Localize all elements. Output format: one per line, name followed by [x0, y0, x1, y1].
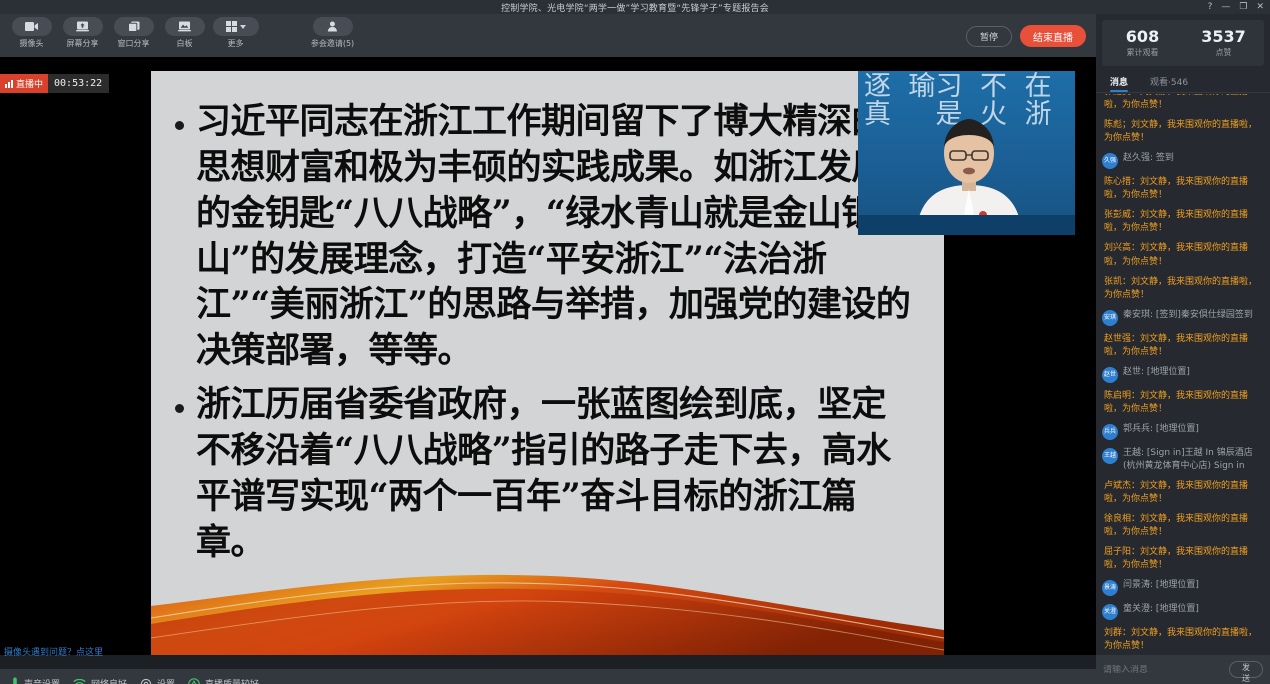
message-composer: 发送 [1096, 655, 1270, 684]
chat-message-text: 张凯：刘文静，我来围观你的直播啦，为你点赞！ [1104, 276, 1262, 302]
slide-bullet: 浙江历届省委省政府，一张蓝图绘到底，坚定不移沿着“八八战略”指引的路子走下去，高… [175, 382, 920, 565]
chat-message: 张彭威：刘文静，我来围观你的直播啦，为你点赞！ [1102, 209, 1262, 235]
person-add-icon [313, 17, 353, 36]
chat-message: 赵世赵世: [地理位置] [1102, 366, 1262, 383]
whiteboard-icon [165, 17, 205, 36]
live-broadcast-app: 控制学院、光电学院“两学一做”学习教育暨“先锋学子”专题报告会 ? — ❐ ✕ [0, 0, 1270, 684]
camera-icon [12, 17, 52, 36]
stat-likes-label: 点赞 [1183, 47, 1264, 58]
stats-box: 608 累计观看 3537 点赞 [1102, 20, 1264, 66]
calligraphy-col-5: 在浙 [1025, 73, 1070, 233]
status-network[interactable]: 网络良好 [73, 677, 127, 684]
chevron-down-icon [240, 25, 246, 29]
avatar[interactable]: 王越 [1102, 448, 1118, 464]
window-title: 控制学院、光电学院“两学一做”学习教育暨“先锋学子”专题报告会 [501, 1, 769, 14]
window-share-icon [114, 17, 154, 36]
tool-window-share[interactable]: 窗口分享 [108, 17, 159, 49]
tool-whiteboard-label: 白板 [177, 38, 193, 49]
stat-likes-value: 3537 [1183, 28, 1264, 46]
whiteboard-glyph [178, 21, 191, 32]
tool-invite[interactable]: 参会邀请(5) [307, 17, 358, 49]
chat-message: 陈启明：刘文静，我来围观你的直播啦，为你点赞！ [1102, 390, 1262, 416]
slide-bullet-text: 浙江历届省委省政府，一张蓝图绘到底，坚定不移沿着“八八战略”指引的路子走下去，高… [196, 382, 920, 565]
chat-message-text: 赵世强：刘文静，我来围观你的直播啦，为你点赞！ [1104, 333, 1262, 359]
tab-messages[interactable]: 消息 [1110, 75, 1128, 92]
grid-icon [226, 21, 237, 32]
chat-message: 陈心措：刘文静，我来围观你的直播啦，为你点赞！ [1102, 176, 1262, 202]
live-status-badge: 直播中 00:53:22 [0, 74, 109, 93]
main-area: 摄像头 屏幕分享 [0, 14, 1096, 655]
chat-message-text: 刘兴高：刘文静，我来围观你的直播啦，为你点赞！ [1104, 242, 1262, 268]
live-tag: 直播中 [0, 74, 48, 93]
tool-more[interactable]: 更多 [210, 17, 261, 49]
avatar[interactable]: 景涛 [1102, 580, 1118, 596]
avatar[interactable]: 久强 [1102, 153, 1118, 169]
window-controls: ? — ❐ ✕ [1208, 0, 1268, 14]
chat-message: 赵世强：刘文静，我来围观你的直播啦，为你点赞！ [1102, 333, 1262, 359]
tool-window-share-label: 窗口分享 [118, 38, 150, 49]
tool-whiteboard[interactable]: 白板 [159, 17, 210, 49]
stat-total-views-label: 累计观看 [1102, 47, 1183, 58]
slide-bullet: 习近平同志在浙江工作期间留下了博大精深的思想财富和极为丰硕的实践成果。如浙江发展… [175, 99, 920, 374]
status-settings[interactable]: 设置 [140, 677, 175, 684]
bullet-dot-icon [175, 404, 184, 413]
chat-message: 关澄童关澄: [地理位置] [1102, 603, 1262, 620]
wifi-icon [73, 679, 86, 684]
microphone-icon [11, 677, 19, 684]
more-pill [213, 17, 259, 36]
camera-glyph [25, 22, 38, 31]
person-add-glyph [327, 21, 339, 32]
status-audio-settings[interactable]: 声音设置 [11, 677, 60, 684]
chat-message-text: 闫景涛: [地理位置] [1123, 579, 1199, 592]
status-stream-quality[interactable]: 直播质量较好 [188, 677, 259, 684]
broadcast-stage: 直播中 00:53:22 摄像头遇到问题？点这里 习近平同志在浙江工作期间留下了… [0, 57, 1096, 655]
tab-divider [1096, 92, 1270, 93]
tool-invite-label: 参会邀请(5) [311, 38, 354, 49]
chat-message: 郭庭剑：刘文静，我来围观你的直播啦，为你点赞！ [1102, 94, 1262, 112]
tab-viewers[interactable]: 观看·546 [1150, 75, 1188, 92]
end-broadcast-button[interactable]: 结束直播 [1020, 25, 1086, 47]
avatar[interactable]: 安琪 [1102, 310, 1118, 326]
elapsed-time: 00:53:22 [48, 78, 109, 89]
close-icon[interactable]: ✕ [1256, 3, 1264, 12]
chat-message: 久强赵久强: 签到 [1102, 152, 1262, 169]
stat-total-views: 608 累计观看 [1102, 28, 1183, 58]
slide-body: 习近平同志在浙江工作期间留下了博大精深的思想财富和极为丰硕的实践成果。如浙江发展… [151, 71, 944, 571]
window-share-glyph [128, 21, 140, 32]
status-quality-label: 直播质量较好 [205, 677, 259, 684]
tool-screen-share-label: 屏幕分享 [67, 38, 99, 49]
stat-total-views-value: 608 [1102, 28, 1183, 46]
avatar[interactable]: 兵兵 [1102, 424, 1118, 440]
chat-message: 刘群：刘文静，我来围观你的直播啦，为你点赞！ [1102, 627, 1262, 653]
calligraphy-col-1: 逐真 [864, 73, 909, 233]
chat-message: 陈彪；刘文静，我来围观你的直播啦，为你点赞！ [1102, 119, 1262, 145]
side-panel: 608 累计观看 3537 点赞 消息 观看·546 邵奇邵奇: [签到]邵奇在… [1096, 14, 1270, 684]
camera-help-link[interactable]: 摄像头遇到问题？点这里 [4, 645, 103, 658]
shared-slide: 习近平同志在浙江工作期间留下了博大精深的思想财富和极为丰硕的实践成果。如浙江发展… [151, 71, 944, 655]
screen-share-icon [63, 17, 103, 36]
chat-message: 王越王越: [Sign in]王越 In 锦辰酒店(杭州黄龙体育中心店) Sig… [1102, 447, 1262, 473]
send-button[interactable]: 发送 [1229, 661, 1263, 678]
chat-message-text: 陈心措：刘文静，我来围观你的直播啦，为你点赞！ [1104, 176, 1262, 202]
slide-bullet-text: 习近平同志在浙江工作期间留下了博大精深的思想财富和极为丰硕的实践成果。如浙江发展… [196, 99, 920, 374]
chat-message: 屈子阳：刘文静，我来围观你的直播啦，为你点赞！ [1102, 546, 1262, 572]
chat-message: 刘兴高：刘文静，我来围观你的直播啦，为你点赞！ [1102, 242, 1262, 268]
bottom-status-bar: 声音设置 网络良好 设置 [0, 669, 1096, 684]
tool-buttons: 摄像头 屏幕分享 [6, 17, 358, 49]
top-toolbar: 摄像头 屏幕分享 [0, 14, 1096, 57]
chat-message-text: 张彭威：刘文静，我来围观你的直播啦，为你点赞！ [1104, 209, 1262, 235]
chat-message: 徐良相：刘文静，我来围观你的直播啦，为你点赞！ [1102, 513, 1262, 539]
chat-message-text: 秦安琪: [签到]秦安倶仕绿园签到 [1123, 309, 1253, 322]
tool-camera-label: 摄像头 [20, 38, 44, 49]
live-tag-label: 直播中 [16, 77, 43, 90]
chat-message: 卢斌杰：刘文静，我来围观你的直播啦，为你点赞！ [1102, 480, 1262, 506]
panel-tabs: 消息 观看·546 [1096, 66, 1270, 92]
chat-message: 安琪秦安琪: [签到]秦安倶仕绿园签到 [1102, 309, 1262, 326]
chat-message-text: 郭庭剑：刘文静，我来围观你的直播啦，为你点赞！ [1104, 94, 1262, 112]
chat-message-text: 童关澄: [地理位置] [1123, 603, 1199, 616]
stat-likes: 3537 点赞 [1183, 28, 1264, 58]
avatar[interactable]: 赵世 [1102, 367, 1118, 383]
window-titlebar: 控制学院、光电学院“两学一做”学习教育暨“先锋学子”专题报告会 ? — ❐ ✕ [0, 0, 1270, 14]
chat-message-text: 赵世: [地理位置] [1123, 366, 1190, 379]
tool-camera[interactable]: 摄像头 [6, 17, 57, 49]
maximize-icon[interactable]: ❐ [1239, 3, 1247, 12]
minimize-icon[interactable]: — [1221, 3, 1230, 12]
status-audio-label: 声音设置 [24, 677, 60, 684]
gear-icon [140, 678, 152, 684]
screen-share-glyph [76, 21, 89, 32]
chat-message-text: 屈子阳：刘文静，我来围观你的直播啦，为你点赞！ [1104, 546, 1262, 572]
chat-message-text: 刘群：刘文静，我来围观你的直播啦，为你点赞！ [1104, 627, 1262, 653]
chat-message-text: 陈彪；刘文静，我来围观你的直播啦，为你点赞！ [1104, 119, 1262, 145]
chat-message: 兵兵郭兵兵: [地理位置] [1102, 423, 1262, 440]
chat-message: 景涛闫景涛: [地理位置] [1102, 579, 1262, 596]
tool-screen-share[interactable]: 屏幕分享 [57, 17, 108, 49]
quality-icon [188, 678, 200, 684]
chat-message-text: 赵久强: 签到 [1123, 152, 1174, 165]
help-icon[interactable]: ? [1208, 3, 1213, 12]
avatar[interactable]: 关澄 [1102, 604, 1118, 620]
message-input[interactable] [1103, 665, 1223, 675]
chat-message-text: 陈启明：刘文静，我来围观你的直播啦，为你点赞！ [1104, 390, 1262, 416]
broadcast-actions: 暂停 结束直播 [966, 25, 1086, 47]
status-settings-label: 设置 [157, 677, 175, 684]
speaker-video[interactable]: 逐真 瑜 习是 不火 在浙 [858, 71, 1075, 235]
tool-more-label: 更多 [228, 38, 244, 49]
chat-message: 张凯：刘文静，我来围观你的直播啦，为你点赞！ [1102, 276, 1262, 302]
status-network-label: 网络良好 [91, 677, 127, 684]
chat-message-text: 卢斌杰：刘文静，我来围观你的直播啦，为你点赞！ [1104, 480, 1262, 506]
pause-button[interactable]: 暂停 [966, 26, 1012, 47]
chat-message-text: 王越: [Sign in]王越 In 锦辰酒店(杭州黄龙体育中心店) Sign … [1123, 447, 1262, 473]
signal-bars-icon [5, 80, 13, 88]
bullet-dot-icon [175, 121, 184, 130]
chat-message-text: 郭兵兵: [地理位置] [1123, 423, 1199, 436]
chat-message-text: 徐良相：刘文静，我来围观你的直播啦，为你点赞！ [1104, 513, 1262, 539]
slide-decoration [151, 560, 944, 655]
desk-foreground [858, 215, 1075, 235]
chat-list[interactable]: 邵奇邵奇: [签到]邵奇在杭州少年儿童图书馆签到沈瑶沈菩瑶: okk郭庭剑：刘文… [1096, 94, 1270, 666]
